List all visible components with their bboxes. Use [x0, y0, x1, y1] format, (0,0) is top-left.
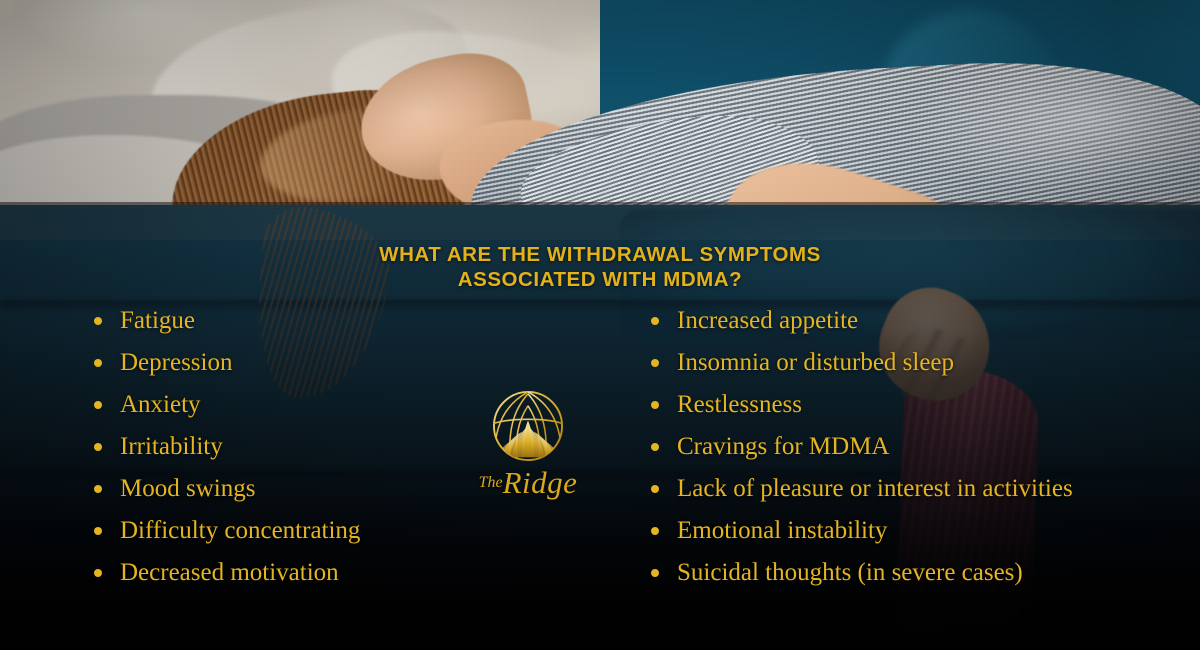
list-item: Suicidal thoughts (in severe cases)	[645, 552, 1175, 594]
list-item: Fatigue	[88, 300, 468, 342]
symptom-columns: Fatigue Depression Anxiety Irritability …	[0, 300, 1200, 610]
list-item: Depression	[88, 342, 468, 384]
list-item: Restlessness	[645, 384, 1175, 426]
list-item: Increased appetite	[645, 300, 1175, 342]
list-item: Lack of pleasure or interest in activiti…	[645, 468, 1175, 510]
list-item: Irritability	[88, 426, 468, 468]
brand-logo-the: The	[479, 474, 503, 491]
symptom-column-left: Fatigue Depression Anxiety Irritability …	[88, 300, 468, 594]
brand-logo: TheRidge	[458, 380, 598, 515]
brand-logo-name: Ridge	[503, 465, 578, 500]
symptom-list-right: Increased appetite Insomnia or disturbed…	[645, 300, 1175, 594]
list-item: Anxiety	[88, 384, 468, 426]
infographic-content: WHAT ARE THE WITHDRAWAL SYMPTOMS ASSOCIA…	[0, 0, 1200, 650]
list-item: Emotional instability	[645, 510, 1175, 552]
list-item: Difficulty concentrating	[88, 510, 468, 552]
page-title-line-1: WHAT ARE THE WITHDRAWAL SYMPTOMS	[0, 242, 1200, 267]
brand-logo-wordmark: TheRidge	[458, 466, 598, 500]
list-item: Insomnia or disturbed sleep	[645, 342, 1175, 384]
list-item: Decreased motivation	[88, 552, 468, 594]
page-title: WHAT ARE THE WITHDRAWAL SYMPTOMS ASSOCIA…	[0, 242, 1200, 292]
symptom-column-right: Increased appetite Insomnia or disturbed…	[645, 300, 1175, 594]
list-item: Cravings for MDMA	[645, 426, 1175, 468]
page-title-line-2: ASSOCIATED WITH MDMA?	[0, 267, 1200, 292]
list-item: Mood swings	[88, 468, 468, 510]
symptom-list-left: Fatigue Depression Anxiety Irritability …	[88, 300, 468, 594]
withdrawal-symptoms-infographic: WHAT ARE THE WITHDRAWAL SYMPTOMS ASSOCIA…	[0, 0, 1200, 650]
ridge-lotus-emblem-icon	[482, 380, 574, 472]
